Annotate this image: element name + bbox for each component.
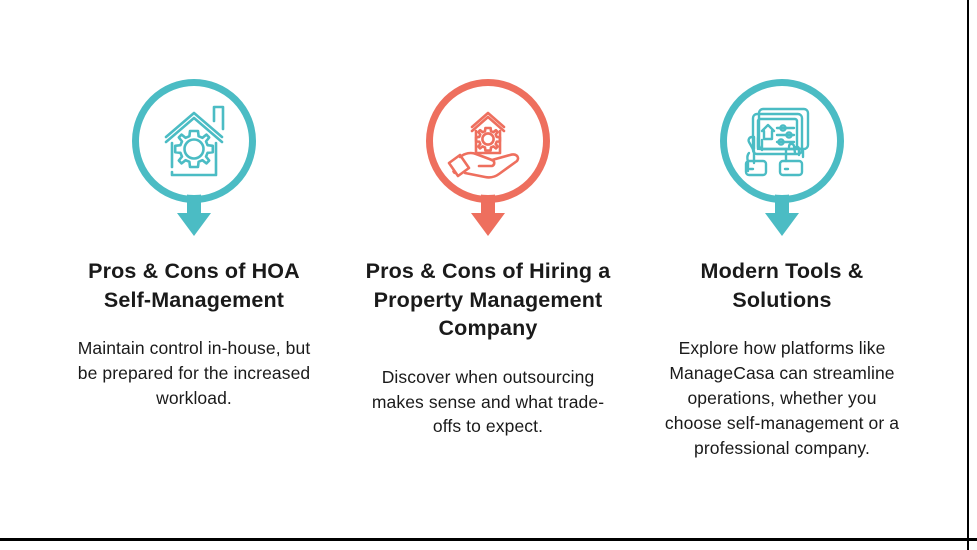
- hands-tablet-dashboard-icon: [707, 75, 857, 247]
- infographic-canvas: Pros & Cons of HOA Self-Management Maint…: [0, 0, 977, 550]
- column-description: Explore how platforms like ManageCasa ca…: [660, 336, 904, 460]
- column-title: Modern Tools & Solutions: [675, 257, 890, 314]
- hand-holding-house-gear-icon: [413, 75, 563, 247]
- column-description: Maintain control in-house, but be prepar…: [69, 336, 319, 411]
- column-title: Pros & Cons of Hiring a Property Managem…: [359, 257, 617, 343]
- column-modern-tools-solutions: Modern Tools & Solutions Explore how pla…: [635, 0, 929, 460]
- column-title: Pros & Cons of HOA Self-Management: [87, 257, 302, 314]
- column-description: Discover when outsourcing makes sense an…: [362, 365, 614, 440]
- house-gear-icon: [119, 75, 269, 247]
- badge-pin-teal-3[interactable]: [707, 75, 857, 247]
- column-property-management-company: Pros & Cons of Hiring a Property Managem…: [341, 0, 635, 439]
- columns-row: Pros & Cons of HOA Self-Management Maint…: [0, 0, 977, 550]
- badge-pin-teal-1[interactable]: [119, 75, 269, 247]
- column-hoa-self-management: Pros & Cons of HOA Self-Management Maint…: [47, 0, 341, 411]
- badge-pin-coral-2[interactable]: [413, 75, 563, 247]
